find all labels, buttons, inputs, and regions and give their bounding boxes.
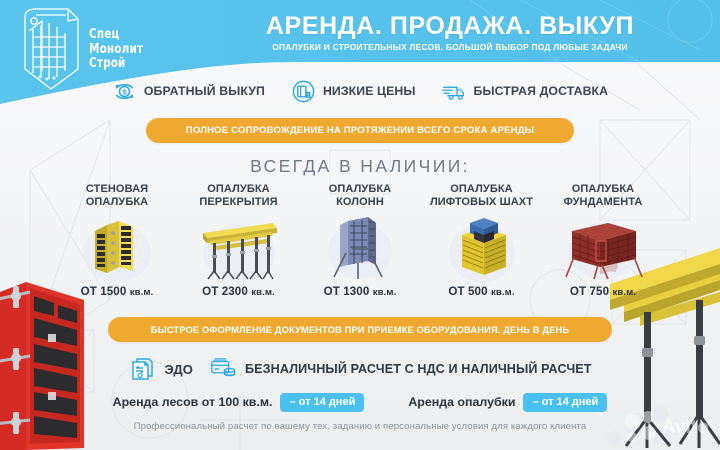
column-formwork-icon <box>312 213 408 283</box>
benefit-label: БЫСТРАЯ ДОСТАВКА <box>474 84 609 98</box>
product-name: ОПАЛУБКАФУНДАМЕНТА <box>544 183 662 211</box>
product-list: СТЕНОВАЯОПАЛУБКА <box>58 183 662 311</box>
footnote: Профессиональный расчет по вашему тех. з… <box>0 421 720 432</box>
wall-formwork-icon <box>67 213 167 283</box>
payment-methods: БЕЗНАЛИЧНЫЙ РАСЧЕТ С НДС И НАЛИЧНЫЙ РАСЧ… <box>209 356 592 382</box>
product-image <box>423 213 541 283</box>
support-banner: ПОЛНОЕ СОПРОВОЖДЕНИЕ НА ПРОТЯЖЕНИИ ВСЕГО… <box>146 118 574 143</box>
product-image <box>301 213 419 283</box>
buyback-arrows-dollar-icon: $ <box>112 79 137 104</box>
product-image <box>180 213 298 283</box>
terms-strip: Аренда лесов от 100 кв.м. – от 14 дней А… <box>0 390 720 414</box>
term-badge: – от 14 дней <box>523 393 607 412</box>
product-card-foundation-formwork[interactable]: ОПАЛУБКАФУНДАМЕНТА <box>544 183 662 298</box>
hero-title: АРЕНДА. ПРОДАЖА. ВЫКУП <box>190 12 710 41</box>
term-scaffolding: Аренда лесов от 100 кв.м. – от 14 дней <box>113 393 365 412</box>
product-card-slab-formwork[interactable]: ОПАЛУБКАПЕРЕКРЫТИЯ <box>180 183 298 298</box>
cash-and-card-icon <box>209 356 237 382</box>
product-card-column-formwork[interactable]: ОПАЛУБКАКОЛОНН <box>301 183 419 298</box>
benefit-low-prices: ₽ НИЗКИЕ ЦЕНЫ <box>291 79 416 104</box>
benefit-buyback: $ ОБРАТНЫЙ ВЫКУП <box>112 79 265 104</box>
foundation-formwork-icon <box>550 213 656 283</box>
banner-canvas: Спец Монолит Строй АРЕНДА. ПРОДАЖА. ВЫКУ… <box>0 0 720 450</box>
term-formwork: Аренда опалубки – от 14 дней <box>408 393 607 412</box>
stock-heading: ВСЕГДА В НАЛИЧИИ: <box>0 156 720 177</box>
benefit-label: НИЗКИЕ ЦЕНЫ <box>323 84 416 98</box>
documents-banner: БЫСТРОЕ ОФОРМЛЕНИЕ ДОКУМЕНТОВ ПРИ ПРИЕМК… <box>108 317 612 342</box>
brand-line-3: Строй <box>89 56 143 71</box>
payment-label: БЕЗНАЛИЧНЫЙ РАСЧЕТ С НДС И НАЛИЧНЫЙ РАСЧ… <box>245 362 592 376</box>
term-label: Аренда лесов от 100 кв.м. <box>113 395 273 409</box>
term-label: Аренда опалубки <box>408 395 515 409</box>
low-price-tag-icon: ₽ <box>291 79 316 104</box>
product-price: ОТ 1500 кв.м. <box>58 285 176 298</box>
product-image <box>58 213 176 283</box>
svg-text:Avito: Avito <box>662 417 709 438</box>
payment-label: ЭДО <box>164 362 193 377</box>
product-name: ОПАЛУБКАКОЛОНН <box>301 183 419 211</box>
term-badge: – от 14 дней <box>280 393 364 412</box>
product-name: ОПАЛУБКАПЕРЕКРЫТИЯ <box>180 183 298 211</box>
avito-watermark-icon: Avito <box>624 408 716 442</box>
delivery-truck-icon <box>442 79 467 104</box>
hero-subtitle: ОПАЛУБКИ И СТРОИТЕЛЬНЫХ ЛЕСОВ. БОЛЬШОЙ В… <box>190 42 710 52</box>
product-card-wall-formwork[interactable]: СТЕНОВАЯОПАЛУБКА <box>58 183 176 298</box>
svg-text:$: $ <box>122 87 126 96</box>
product-name: ОПАЛУБКАЛИФТОВЫХ ШАХТ <box>423 183 541 211</box>
payment-strip: ЭДО БЕЗНАЛИЧНЫЙ РАСЧЕТ С НД <box>0 352 720 386</box>
product-name: СТЕНОВАЯОПАЛУБКА <box>58 183 176 211</box>
product-price: ОТ 2300 кв.м. <box>180 285 298 298</box>
product-price: ОТ 750 кв.м. <box>544 285 662 298</box>
slab-formwork-icon <box>187 213 291 283</box>
product-price: ОТ 500 кв.м. <box>423 285 541 298</box>
benefits-strip: $ ОБРАТНЫЙ ВЫКУП ₽ НИЗКИЕ ЦЕНЫ <box>0 75 720 107</box>
benefit-label: ОБРАТНЫЙ ВЫКУП <box>144 84 265 98</box>
product-image <box>544 213 662 283</box>
brand-wordmark: Спец Монолит Строй <box>89 27 143 71</box>
product-price: ОТ 1300 кв.м. <box>301 285 419 298</box>
product-card-elevator-shaft-formwork[interactable]: ОПАЛУБКАЛИФТОВЫХ ШАХТ <box>423 183 541 298</box>
benefit-fast-delivery: БЫСТРАЯ ДОСТАВКА <box>442 79 609 104</box>
elevator-shaft-formwork-icon <box>432 213 532 283</box>
edo-document-exchange-icon <box>128 356 156 382</box>
payment-edo: ЭДО <box>128 356 193 382</box>
brand-line-2: Монолит <box>89 42 143 57</box>
brand-line-1: Спец <box>89 27 143 42</box>
